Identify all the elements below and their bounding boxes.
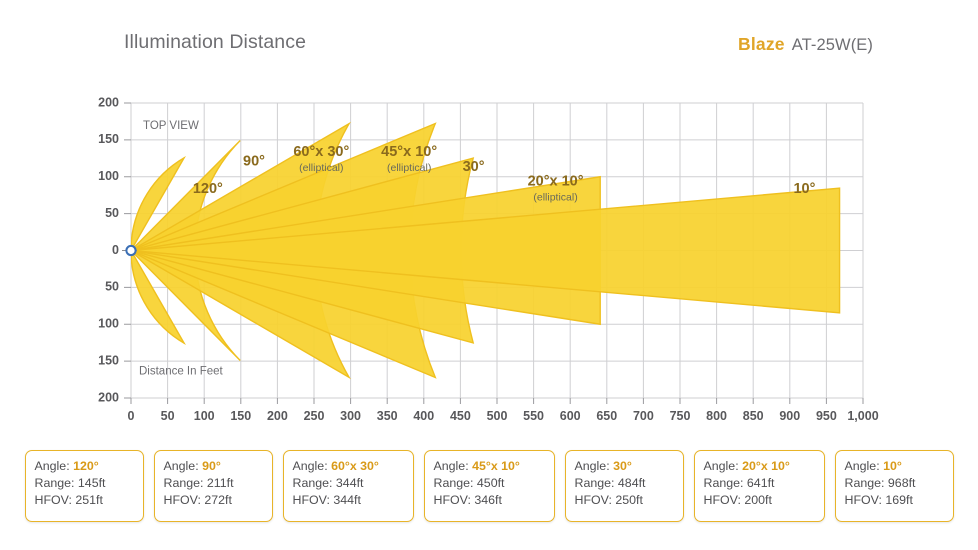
brand-name: Blaze: [738, 34, 785, 54]
svg-text:50: 50: [105, 280, 119, 294]
card-hfov-label: HFOV:: [704, 493, 745, 507]
card-range-line: Range: 145ft: [35, 475, 143, 492]
svg-text:150: 150: [98, 132, 119, 146]
svg-text:900: 900: [779, 409, 800, 423]
card-angle-line: Angle: 20°x 10°: [704, 458, 824, 475]
card-hfov-line: HFOV: 200ft: [704, 492, 824, 509]
card-angle-label: Angle:: [164, 459, 203, 473]
svg-text:TOP VIEW: TOP VIEW: [143, 120, 199, 132]
spec-card[interactable]: Angle: 120°Range: 145ftHFOV: 251ft: [25, 450, 144, 522]
card-angle-line: Angle: 60°x 30°: [293, 458, 413, 475]
card-angle-value: 10°: [883, 459, 902, 473]
card-range-label: Range:: [35, 476, 78, 490]
card-range-label: Range:: [704, 476, 747, 490]
card-hfov-label: HFOV:: [845, 493, 886, 507]
spec-card[interactable]: Angle: 45°x 10°Range: 450ftHFOV: 346ft: [424, 450, 555, 522]
beam-label-4: 30°: [463, 159, 485, 175]
svg-text:750: 750: [670, 409, 691, 423]
spec-card[interactable]: Angle: 10°Range: 968ftHFOV: 169ft: [835, 450, 954, 522]
card-range-line: Range: 484ft: [575, 475, 683, 492]
svg-text:200: 200: [98, 95, 119, 109]
card-angle-value: 45°x 10°: [472, 459, 520, 473]
beam-sublabel-3: (elliptical): [387, 162, 431, 174]
card-hfov-label: HFOV:: [575, 493, 616, 507]
card-hfov-value: 272ft: [204, 493, 232, 507]
card-angle-label: Angle:: [293, 459, 332, 473]
card-hfov-line: HFOV: 272ft: [164, 492, 272, 509]
card-angle-line: Angle: 90°: [164, 458, 272, 475]
svg-text:0: 0: [112, 243, 119, 257]
svg-text:850: 850: [743, 409, 764, 423]
svg-text:950: 950: [816, 409, 837, 423]
card-range-label: Range:: [434, 476, 477, 490]
svg-text:150: 150: [98, 353, 119, 367]
card-angle-line: Angle: 30°: [575, 458, 683, 475]
model-number: AT-25W(E): [792, 36, 873, 54]
card-hfov-line: HFOV: 169ft: [845, 492, 953, 509]
card-range-line: Range: 344ft: [293, 475, 413, 492]
card-hfov-label: HFOV:: [35, 493, 76, 507]
beam-label-5: 20°x 10°: [528, 174, 584, 190]
card-angle-line: Angle: 120°: [35, 458, 143, 475]
card-hfov-value: 344ft: [333, 493, 361, 507]
card-angle-line: Angle: 45°x 10°: [434, 458, 554, 475]
card-hfov-value: 250ft: [615, 493, 643, 507]
card-angle-value: 90°: [202, 459, 221, 473]
spec-card[interactable]: Angle: 60°x 30°Range: 344ftHFOV: 344ft: [283, 450, 414, 522]
svg-text:500: 500: [487, 409, 508, 423]
svg-text:200: 200: [98, 390, 119, 404]
beam-sublabel-2: (elliptical): [299, 162, 343, 174]
card-range-value: 484ft: [618, 476, 646, 490]
card-range-line: Range: 641ft: [704, 475, 824, 492]
svg-text:400: 400: [413, 409, 434, 423]
card-angle-value: 30°: [613, 459, 632, 473]
svg-text:600: 600: [560, 409, 581, 423]
svg-text:550: 550: [523, 409, 544, 423]
svg-text:450: 450: [450, 409, 471, 423]
card-range-value: 145ft: [78, 476, 106, 490]
card-range-label: Range:: [293, 476, 336, 490]
card-hfov-line: HFOV: 344ft: [293, 492, 413, 509]
card-range-line: Range: 211ft: [164, 475, 272, 492]
card-range-label: Range:: [164, 476, 207, 490]
card-range-value: 450ft: [477, 476, 505, 490]
card-hfov-label: HFOV:: [434, 493, 475, 507]
product-identity: BlazeAT-25W(E): [738, 34, 873, 55]
svg-text:700: 700: [633, 409, 654, 423]
svg-text:1,000: 1,000: [847, 409, 878, 423]
spec-card[interactable]: Angle: 30°Range: 484ftHFOV: 250ft: [565, 450, 684, 522]
card-hfov-value: 169ft: [885, 493, 913, 507]
beam-label-3: 45°x 10°: [381, 144, 437, 160]
svg-text:50: 50: [161, 409, 175, 423]
card-hfov-label: HFOV:: [293, 493, 334, 507]
card-range-label: Range:: [845, 476, 888, 490]
beam-label-2: 60°x 30°: [293, 144, 349, 160]
card-angle-label: Angle:: [704, 459, 743, 473]
spec-card[interactable]: Angle: 90°Range: 211ftHFOV: 272ft: [154, 450, 273, 522]
card-range-value: 641ft: [747, 476, 775, 490]
card-range-value: 211ft: [207, 476, 234, 490]
beam-label-6: 10°: [793, 181, 815, 197]
card-angle-label: Angle:: [575, 459, 614, 473]
svg-text:650: 650: [596, 409, 617, 423]
svg-text:50: 50: [105, 206, 119, 220]
svg-text:150: 150: [230, 409, 251, 423]
card-hfov-line: HFOV: 346ft: [434, 492, 554, 509]
svg-text:100: 100: [194, 409, 215, 423]
beam-sublabel-5: (elliptical): [533, 192, 577, 204]
card-angle-value: 120°: [73, 459, 99, 473]
beam-label-0: 120°: [193, 181, 223, 197]
card-hfov-value: 346ft: [474, 493, 502, 507]
svg-text:0: 0: [128, 409, 135, 423]
card-range-label: Range:: [575, 476, 618, 490]
card-hfov-label: HFOV:: [164, 493, 205, 507]
svg-text:100: 100: [98, 317, 119, 331]
card-angle-line: Angle: 10°: [845, 458, 953, 475]
svg-text:250: 250: [304, 409, 325, 423]
origin-marker: [122, 246, 137, 255]
card-angle-label: Angle:: [434, 459, 473, 473]
card-hfov-line: HFOV: 251ft: [35, 492, 143, 509]
card-hfov-value: 200ft: [744, 493, 772, 507]
card-angle-label: Angle:: [845, 459, 884, 473]
card-hfov-value: 251ft: [75, 493, 103, 507]
svg-text:200: 200: [267, 409, 288, 423]
illumination-distance-chart-page: Illumination Distance BlazeAT-25W(E) 200…: [0, 0, 978, 550]
page-title: Illumination Distance: [124, 31, 306, 54]
beam-shapes: [131, 123, 840, 377]
card-angle-value: 60°x 30°: [331, 459, 379, 473]
beam-label-1: 90°: [243, 154, 265, 170]
card-range-value: 968ft: [888, 476, 916, 490]
svg-text:Distance In Feet: Distance In Feet: [139, 365, 224, 377]
svg-text:800: 800: [706, 409, 727, 423]
spec-card[interactable]: Angle: 20°x 10°Range: 641ftHFOV: 200ft: [694, 450, 825, 522]
beam-pattern-plot: 2001501005005010015020005010015020025030…: [0, 88, 978, 433]
card-hfov-line: HFOV: 250ft: [575, 492, 683, 509]
svg-text:350: 350: [377, 409, 398, 423]
card-range-line: Range: 968ft: [845, 475, 953, 492]
svg-text:300: 300: [340, 409, 361, 423]
svg-text:100: 100: [98, 169, 119, 183]
spec-card-list: Angle: 120°Range: 145ftHFOV: 251ftAngle:…: [0, 450, 978, 536]
card-angle-value: 20°x 10°: [742, 459, 790, 473]
card-angle-label: Angle:: [35, 459, 74, 473]
page-header: Illumination Distance BlazeAT-25W(E): [0, 0, 978, 88]
card-range-value: 344ft: [336, 476, 364, 490]
chart-container: 2001501005005010015020005010015020025030…: [0, 88, 978, 433]
card-range-line: Range: 450ft: [434, 475, 554, 492]
